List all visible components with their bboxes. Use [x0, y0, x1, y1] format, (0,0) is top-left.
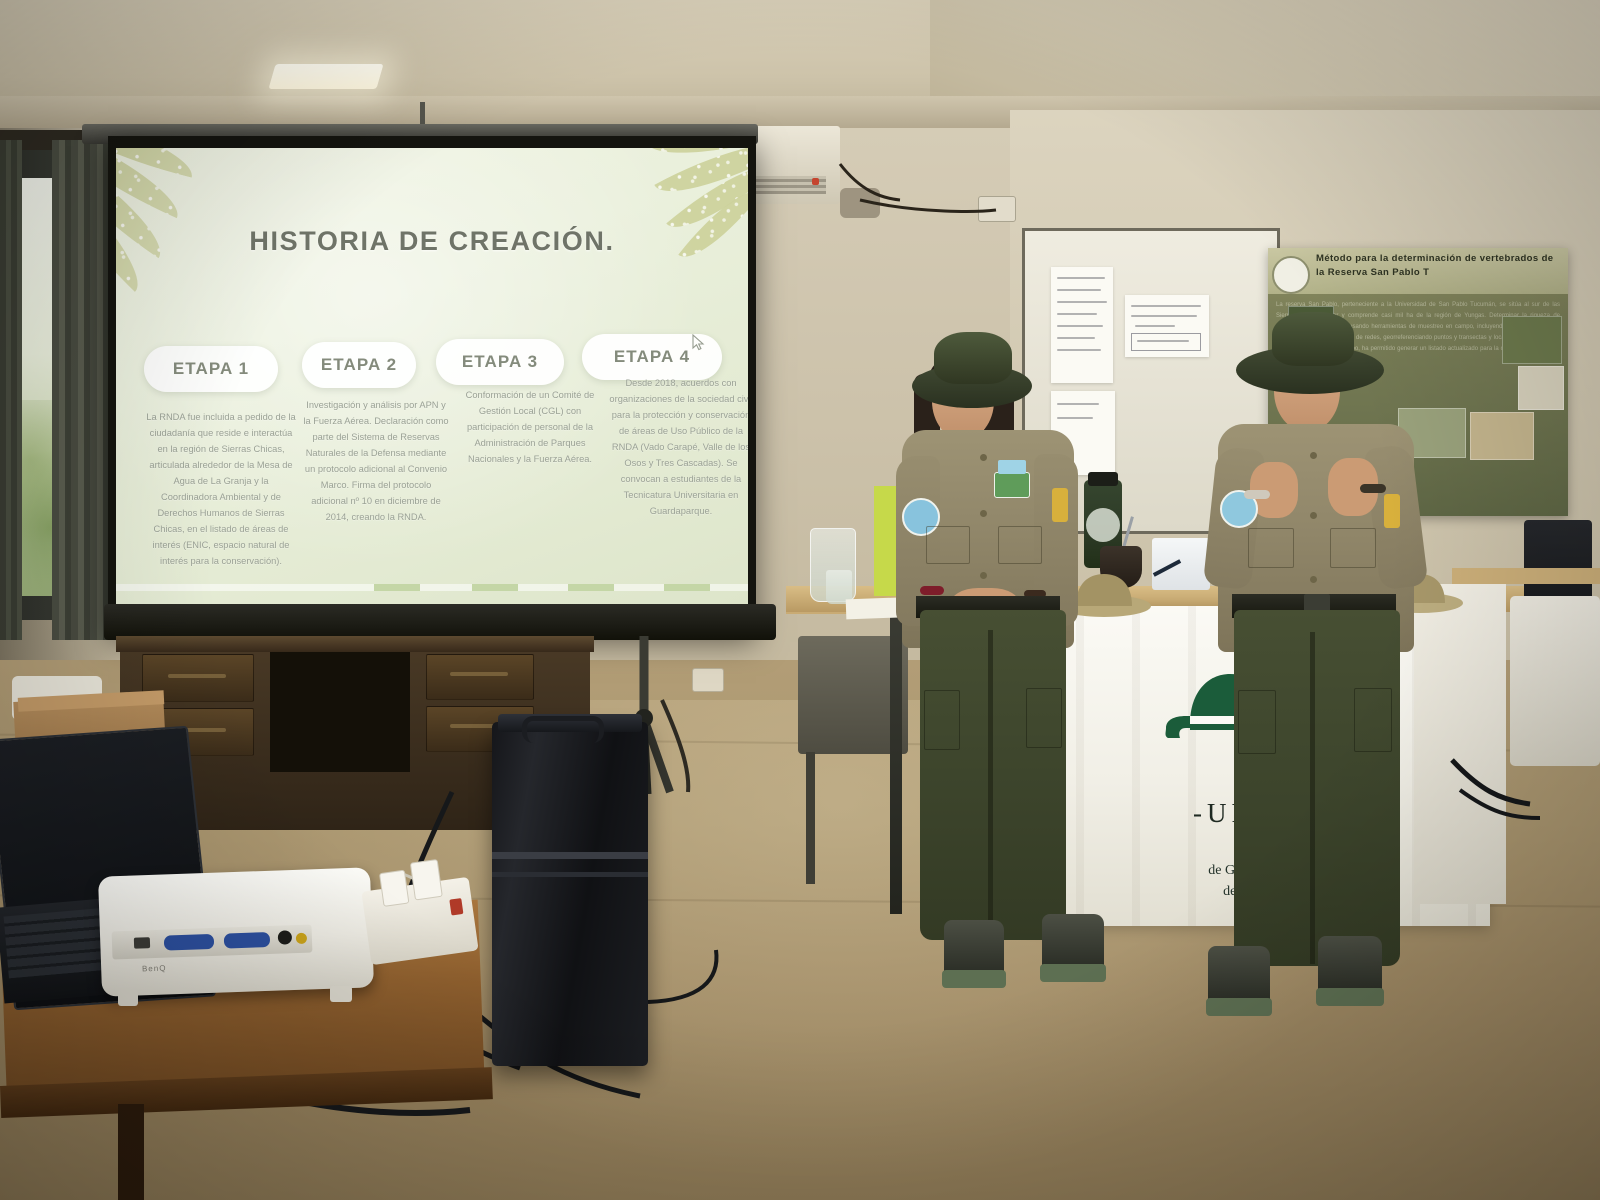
classroom-presentation-scene: Método para la determinación de vertebra… — [0, 0, 1600, 1200]
